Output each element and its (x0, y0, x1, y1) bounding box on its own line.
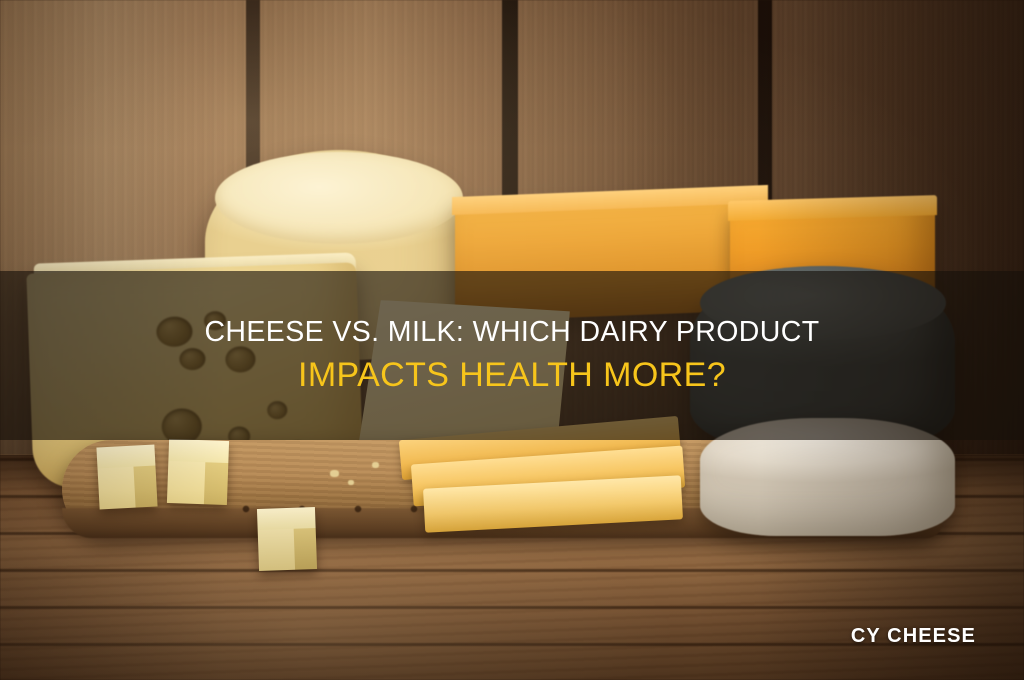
title-line-accent: IMPACTS HEALTH MORE? (298, 356, 726, 395)
cheese-cube-front-face (98, 467, 136, 510)
cheese-crumb (372, 462, 379, 468)
cheese-cube-top-face (96, 445, 155, 469)
pale-cheese-wheel-top (215, 152, 463, 244)
cheese-cube (257, 507, 317, 571)
cheese-cube-top-face (257, 507, 316, 530)
title-line-primary: CHEESE VS. MILK: WHICH DAIRY PRODUCT (204, 316, 819, 349)
cheese-cube-side-face (204, 462, 228, 505)
cheese-article-hero-banner: CHEESE VS. MILK: WHICH DAIRY PRODUCT IMP… (0, 0, 1024, 680)
cheese-cube-side-face (133, 466, 157, 508)
site-watermark: CY CHEESE (851, 625, 976, 648)
cheese-cube (167, 439, 229, 505)
cheese-cube-front-face (167, 461, 206, 505)
cheese-crumb (330, 470, 339, 477)
cheese-cube-front-face (258, 529, 295, 571)
cheese-cube-side-face (294, 528, 317, 570)
cheese-cube-top-face (168, 439, 229, 463)
title-block: CHEESE VS. MILK: WHICH DAIRY PRODUCT IMP… (0, 271, 1024, 440)
cheese-cube (96, 445, 157, 510)
cheese-crumb (348, 480, 354, 485)
